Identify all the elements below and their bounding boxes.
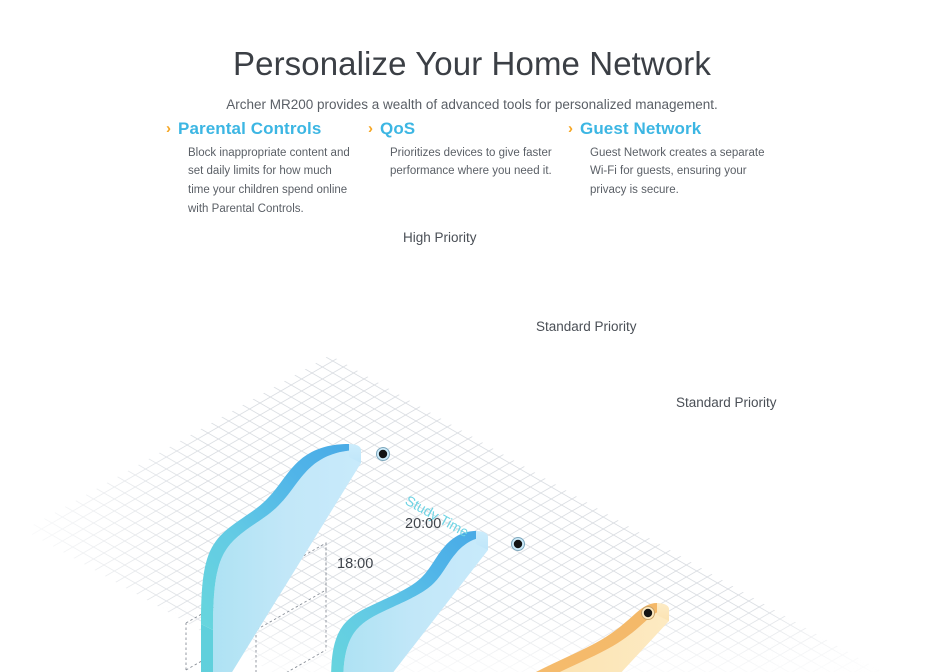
feature-guest-network[interactable]: › Guest Network Guest Network creates a … xyxy=(568,120,768,200)
chevron-right-icon: › xyxy=(368,121,373,136)
feature-body: Prioritizes devices to give faster perfo… xyxy=(390,144,553,181)
data-point-marker-guests[interactable] xyxy=(642,607,655,620)
chart-label-high-priority: High Priority xyxy=(403,231,477,245)
feature-body: Guest Network creates a separate Wi-Fi f… xyxy=(590,144,768,200)
chevron-right-icon: › xyxy=(166,121,171,136)
feature-list: › Parental Controls Block inappropriate … xyxy=(0,120,944,215)
feature-title: Guest Network xyxy=(580,120,701,139)
chevron-right-icon: › xyxy=(568,121,573,136)
chart-canvas xyxy=(0,205,944,672)
feature-title: Parental Controls xyxy=(178,120,321,139)
chart-label-standard-priority-guests: Standard Priority xyxy=(676,396,777,410)
feature-qos[interactable]: › QoS Prioritizes devices to give faster… xyxy=(368,120,553,181)
feature-title: QoS xyxy=(380,120,415,139)
page-subtitle: Archer MR200 provides a wealth of advanc… xyxy=(0,96,944,115)
chart-annotation-time-start: 18:00 xyxy=(337,557,373,572)
feature-parental-controls[interactable]: › Parental Controls Block inappropriate … xyxy=(166,120,351,218)
feature-heading: › Guest Network xyxy=(568,120,768,139)
chart-grid-floor xyxy=(0,205,944,672)
feature-heading: › QoS xyxy=(368,120,553,139)
chart-annotation-time-end: 20:00 xyxy=(405,517,441,532)
ribbon-left-cap xyxy=(201,624,213,672)
page-title: Personalize Your Home Network xyxy=(0,44,944,84)
data-point-marker-children[interactable] xyxy=(512,538,525,551)
isometric-chart: High Priority Standard Priority Standard… xyxy=(0,205,944,672)
feature-heading: › Parental Controls xyxy=(166,120,351,139)
data-point-marker-parents[interactable] xyxy=(377,448,390,461)
page-root: Personalize Your Home Network Archer MR2… xyxy=(0,0,944,672)
chart-label-standard-priority-children: Standard Priority xyxy=(536,320,637,334)
